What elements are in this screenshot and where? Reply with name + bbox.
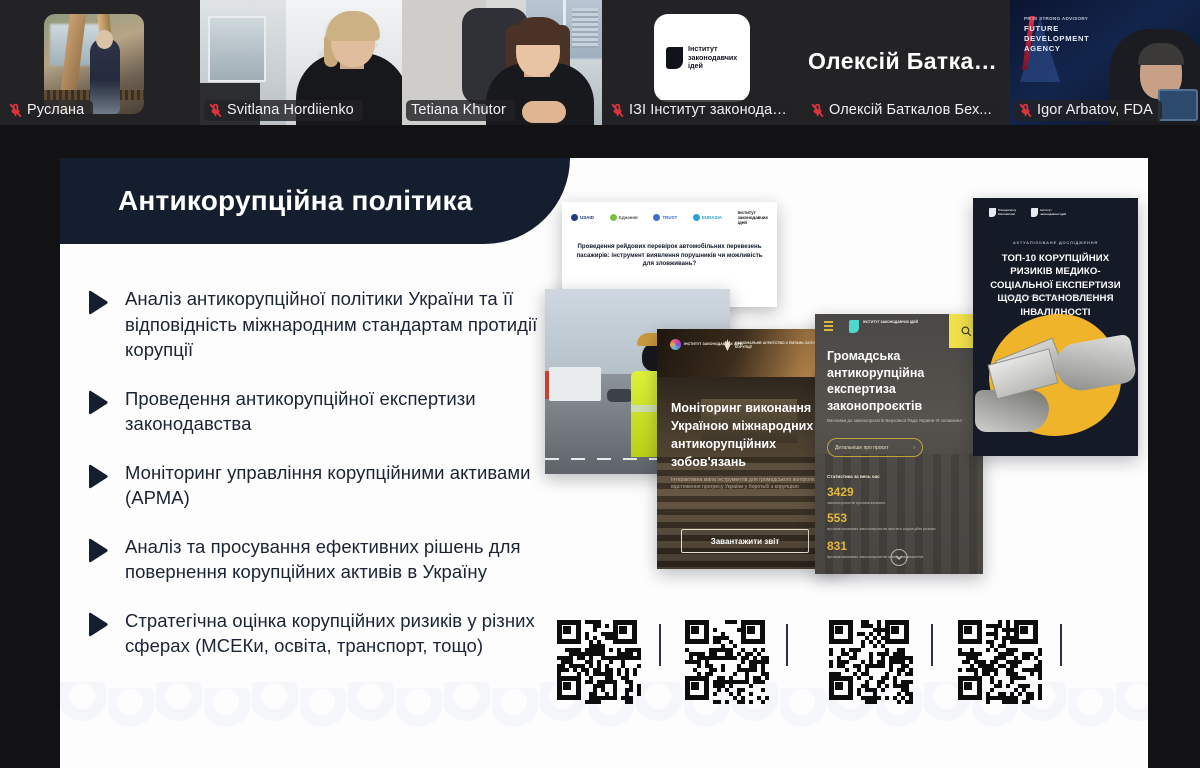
izi-mark-icon (666, 47, 683, 69)
organization-logo: Інститутзаконодавчихідей (654, 14, 750, 102)
mic-muted-icon (1019, 103, 1032, 118)
download-report-button[interactable]: Завантажити звіт (681, 529, 809, 553)
ednannia-logo: Єднання (610, 213, 638, 221)
izi-logo: Інститутзаконодавчих ідей (1031, 208, 1066, 217)
collage-card-top10-research: TransparencyInternational Інститутзаконо… (973, 198, 1138, 456)
participant-video-strip: Руслана Інститутзаконодавчідей (0, 0, 1200, 125)
participant-display-name-large: Олексій Баткал... (802, 48, 1010, 75)
participant-tile-ruslana[interactable]: Руслана (0, 0, 200, 125)
participant-name-badge: Tetiana Khutor (406, 100, 515, 121)
izi-logo-text: Інститутзаконодавчихідей (688, 45, 737, 70)
stat-value: 553 (827, 512, 847, 525)
bullet-item: Аналіз та просування ефективних рішень д… (88, 534, 558, 585)
mic-muted-icon (9, 103, 22, 118)
screen-root: Руслана Інститутзаконодавчідей (0, 0, 1200, 768)
bullet-text: Проведення антикорупційної експертизи за… (125, 386, 558, 437)
shared-screen-slide[interactable]: Антикорупційна політика Аналіз антикоруп… (60, 158, 1148, 768)
stat-caption: законопроєктів проаналізовано (827, 500, 971, 505)
participant-tile-izi[interactable]: Інститутзаконодавчихідей ІЗІ Інститут за… (602, 0, 802, 125)
slide-title: Антикорупційна політика (118, 185, 473, 217)
cta-label: Детальніше про проєкт (835, 445, 889, 451)
qr-connector-line (786, 624, 788, 666)
bullet-arrow-icon (88, 390, 109, 415)
qr-connector-line (1060, 624, 1062, 666)
qr-code[interactable] (829, 620, 913, 704)
participant-name-badge: ІЗІ Інститут законодав... (606, 100, 796, 121)
hand-illustration (975, 390, 1049, 432)
donor-logo-row: USAID Єднання TRUST EURASIA Інститутзако… (571, 213, 768, 221)
bullet-text: Аналіз антикорупційної політики України … (125, 286, 558, 363)
participant-name-badge: Igor Arbatov, FDA (1014, 100, 1162, 121)
tryzub-icon (723, 339, 732, 351)
participant-tile-svitlana[interactable]: Інститутзаконодавчідей Svitlana Hordiien… (200, 0, 402, 125)
research-kicker: АКТУАЛІЗОВАНЕ ДОСЛІДЖЕННЯ (973, 240, 1138, 245)
eurasia-logo: EURASIA (693, 213, 722, 221)
bullet-item: Стратегічна оцінка корупційних ризиків у… (88, 608, 558, 659)
participant-name-badge: Svitlana Hordiienko (204, 100, 363, 121)
bullet-arrow-icon (88, 464, 109, 489)
monitoring-headline: Моніторинг виконання Україною міжнародни… (671, 399, 833, 471)
partner-logo: TransparencyInternational (989, 208, 1016, 217)
participant-name: Руслана (27, 102, 84, 118)
stat-caption: проаналізованих законопроєктів містять к… (827, 526, 971, 531)
expertise-headline: Громадська антикорупційна експертиза зак… (827, 348, 973, 414)
bullet-arrow-icon (88, 290, 109, 315)
participant-name: Igor Arbatov, FDA (1037, 102, 1153, 118)
participant-tile-igor-arbatov[interactable]: PR IS STRONG ADVISORY FUTUREDEVELOPMENTA… (1010, 0, 1200, 125)
participant-tile-oleksii[interactable]: Олексій Баткал... Олексій Баткалов Бех..… (802, 0, 1010, 125)
monitoring-subtext: Інтерактивна мапа інструментів для грома… (671, 477, 825, 492)
trust-logo: TRUST (653, 213, 677, 221)
mic-muted-icon (209, 103, 222, 118)
site-header: ІНСТИТУТ ЗАКОНОДАВЧИХ ІДЕЙ (815, 314, 983, 338)
izi-logo: Інститутзаконодавчихідей (738, 213, 768, 221)
bullet-arrow-icon (88, 612, 109, 637)
bullet-text: Аналіз та просування ефективних рішень д… (125, 534, 558, 585)
mic-muted-icon (611, 103, 624, 118)
slide-title-banner: Антикорупційна політика (60, 158, 570, 244)
research-subtext: Аналітичне дослідження корупційних ризик… (993, 294, 1118, 298)
more-about-project-button[interactable]: Детальніше про проєкт › (827, 438, 923, 457)
bullet-item: Моніторинг управління корупційними актив… (88, 460, 558, 511)
stat-value: 831 (827, 540, 847, 553)
bullet-text: Моніторинг управління корупційними актив… (125, 460, 558, 511)
mic-muted-icon (811, 103, 824, 118)
bullet-item: Проведення антикорупційної експертизи за… (88, 386, 558, 437)
bullet-arrow-icon (88, 538, 109, 563)
collage-card-expertise-site: ІНСТИТУТ ЗАКОНОДАВЧИХ ІДЕЙ Громадська ан… (815, 314, 983, 574)
stat-value: 3429 (827, 486, 854, 499)
research-logo-row: TransparencyInternational Інститутзаконо… (989, 208, 1066, 217)
izi-brand-text: ІНСТИТУТ ЗАКОНОДАВЧИХ ІДЕЙ (863, 320, 918, 324)
expertise-subtext: Висновки до законопроєктів Верховної Рад… (827, 418, 969, 425)
izi-ring-icon (670, 339, 681, 350)
report-headline: Проведення рейдових перевірок автомобіль… (576, 243, 763, 269)
stats-label: Статистика за весь час (827, 474, 880, 479)
qr-connector-line (931, 624, 933, 666)
slide-project-collage: USAID Єднання TRUST EURASIA Інститутзако… (545, 194, 1145, 624)
research-headline: ТОП-10 КОРУПЦІЙНИХ РИЗИКІВ МЕДИКО-СОЦІАЛ… (981, 252, 1130, 319)
bullet-text: Стратегічна оцінка корупційних ризиків у… (125, 608, 558, 659)
usaid-logo: USAID (571, 213, 594, 221)
slide-bullet-list: Аналіз антикорупційної політики України … (88, 286, 558, 659)
participant-name-badge: Руслана (4, 100, 93, 121)
hamburger-menu-icon[interactable] (824, 321, 833, 333)
qr-code[interactable] (685, 620, 769, 704)
qr-code[interactable] (557, 620, 641, 704)
participant-tile-tetiana-active-speaker[interactable]: Tetiana Khutor (402, 0, 602, 125)
fda-logo-text: PR IS STRONG ADVISORY FUTUREDEVELOPMENTA… (1024, 14, 1090, 54)
qr-code[interactable] (958, 620, 1042, 704)
qr-connector-line (659, 624, 661, 666)
participant-name: ІЗІ Інститут законодав... (629, 102, 787, 118)
participant-name: Олексій Баткалов Бех... (829, 102, 992, 118)
participant-name: Tetiana Khutor (411, 102, 506, 118)
participant-name-badge: Олексій Баткалов Бех... (806, 100, 1001, 121)
scroll-down-icon[interactable] (891, 549, 908, 566)
bullet-item: Аналіз антикорупційної політики України … (88, 286, 558, 363)
participant-name: Svitlana Hordiienko (227, 102, 354, 118)
izi-mark-icon (849, 320, 859, 333)
chevron-right-icon: › (913, 445, 915, 451)
fda-logo-kicker: PR IS STRONG ADVISORY (1024, 14, 1090, 24)
